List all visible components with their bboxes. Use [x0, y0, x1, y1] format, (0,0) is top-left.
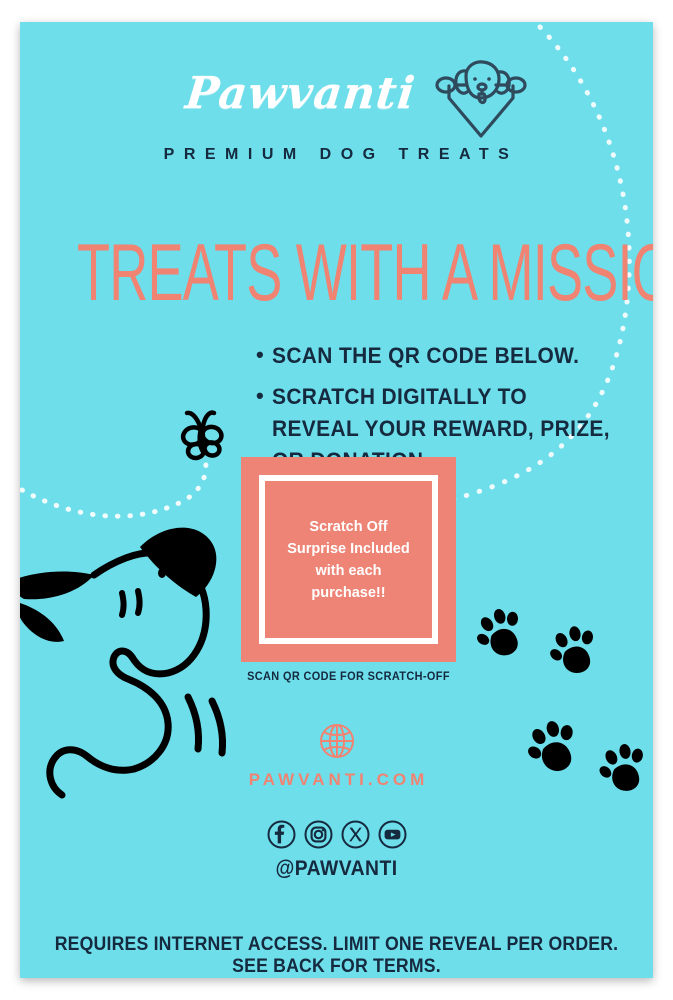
website-url[interactable]: PAWVANTI.COM [20, 770, 653, 790]
scratch-line-4: purchase!! [311, 585, 385, 601]
tagline: PREMIUM DOG TREATS [20, 146, 653, 164]
instagram-icon[interactable] [304, 820, 333, 849]
dog-head-bandana-icon [433, 56, 529, 146]
globe-icon [316, 720, 358, 762]
brand-row: Pawvanti [20, 56, 653, 144]
scratch-line-3: with each [315, 563, 381, 579]
poster-canvas: Pawvanti [0, 0, 673, 1000]
x-twitter-icon[interactable] [341, 820, 370, 849]
scratch-caption: SCAN QR CODE FOR SCRATCH-OFF [246, 671, 450, 683]
scratch-message: Scratch Off Surprise Included with each … [281, 516, 415, 604]
social-block: @PAWVANTI [20, 820, 653, 881]
disclaimer-text: REQUIRES INTERNET ACCESS. LIMIT ONE REVE… [42, 934, 631, 978]
scratch-inner-frame: Scratch Off Surprise Included with each … [259, 475, 438, 644]
youtube-icon[interactable] [378, 820, 407, 849]
page-title: TREATS WITH A MISSION [77, 228, 596, 316]
scratch-off-block: Scratch Off Surprise Included with each … [241, 457, 456, 683]
facebook-icon[interactable] [267, 820, 296, 849]
social-icon-row [20, 820, 653, 849]
scratch-line-1: Scratch Off [309, 519, 387, 535]
bullet-marker: • [256, 340, 272, 370]
bullet-marker: • [256, 381, 272, 411]
poster: Pawvanti [20, 22, 653, 978]
scratch-line-2: Surprise Included [287, 541, 409, 557]
poster-header: Pawvanti [20, 56, 653, 164]
qr-code-placeholder[interactable]: Scratch Off Surprise Included with each … [241, 457, 456, 662]
social-handle[interactable]: @PAWVANTI [45, 857, 627, 881]
list-item: • SCAN THE QR CODE BELOW. [256, 340, 636, 372]
brand-name: Pawvanti [20, 68, 620, 119]
website-block: PAWVANTI.COM [20, 720, 653, 790]
list-item-label: SCAN THE QR CODE BELOW. [272, 340, 611, 372]
